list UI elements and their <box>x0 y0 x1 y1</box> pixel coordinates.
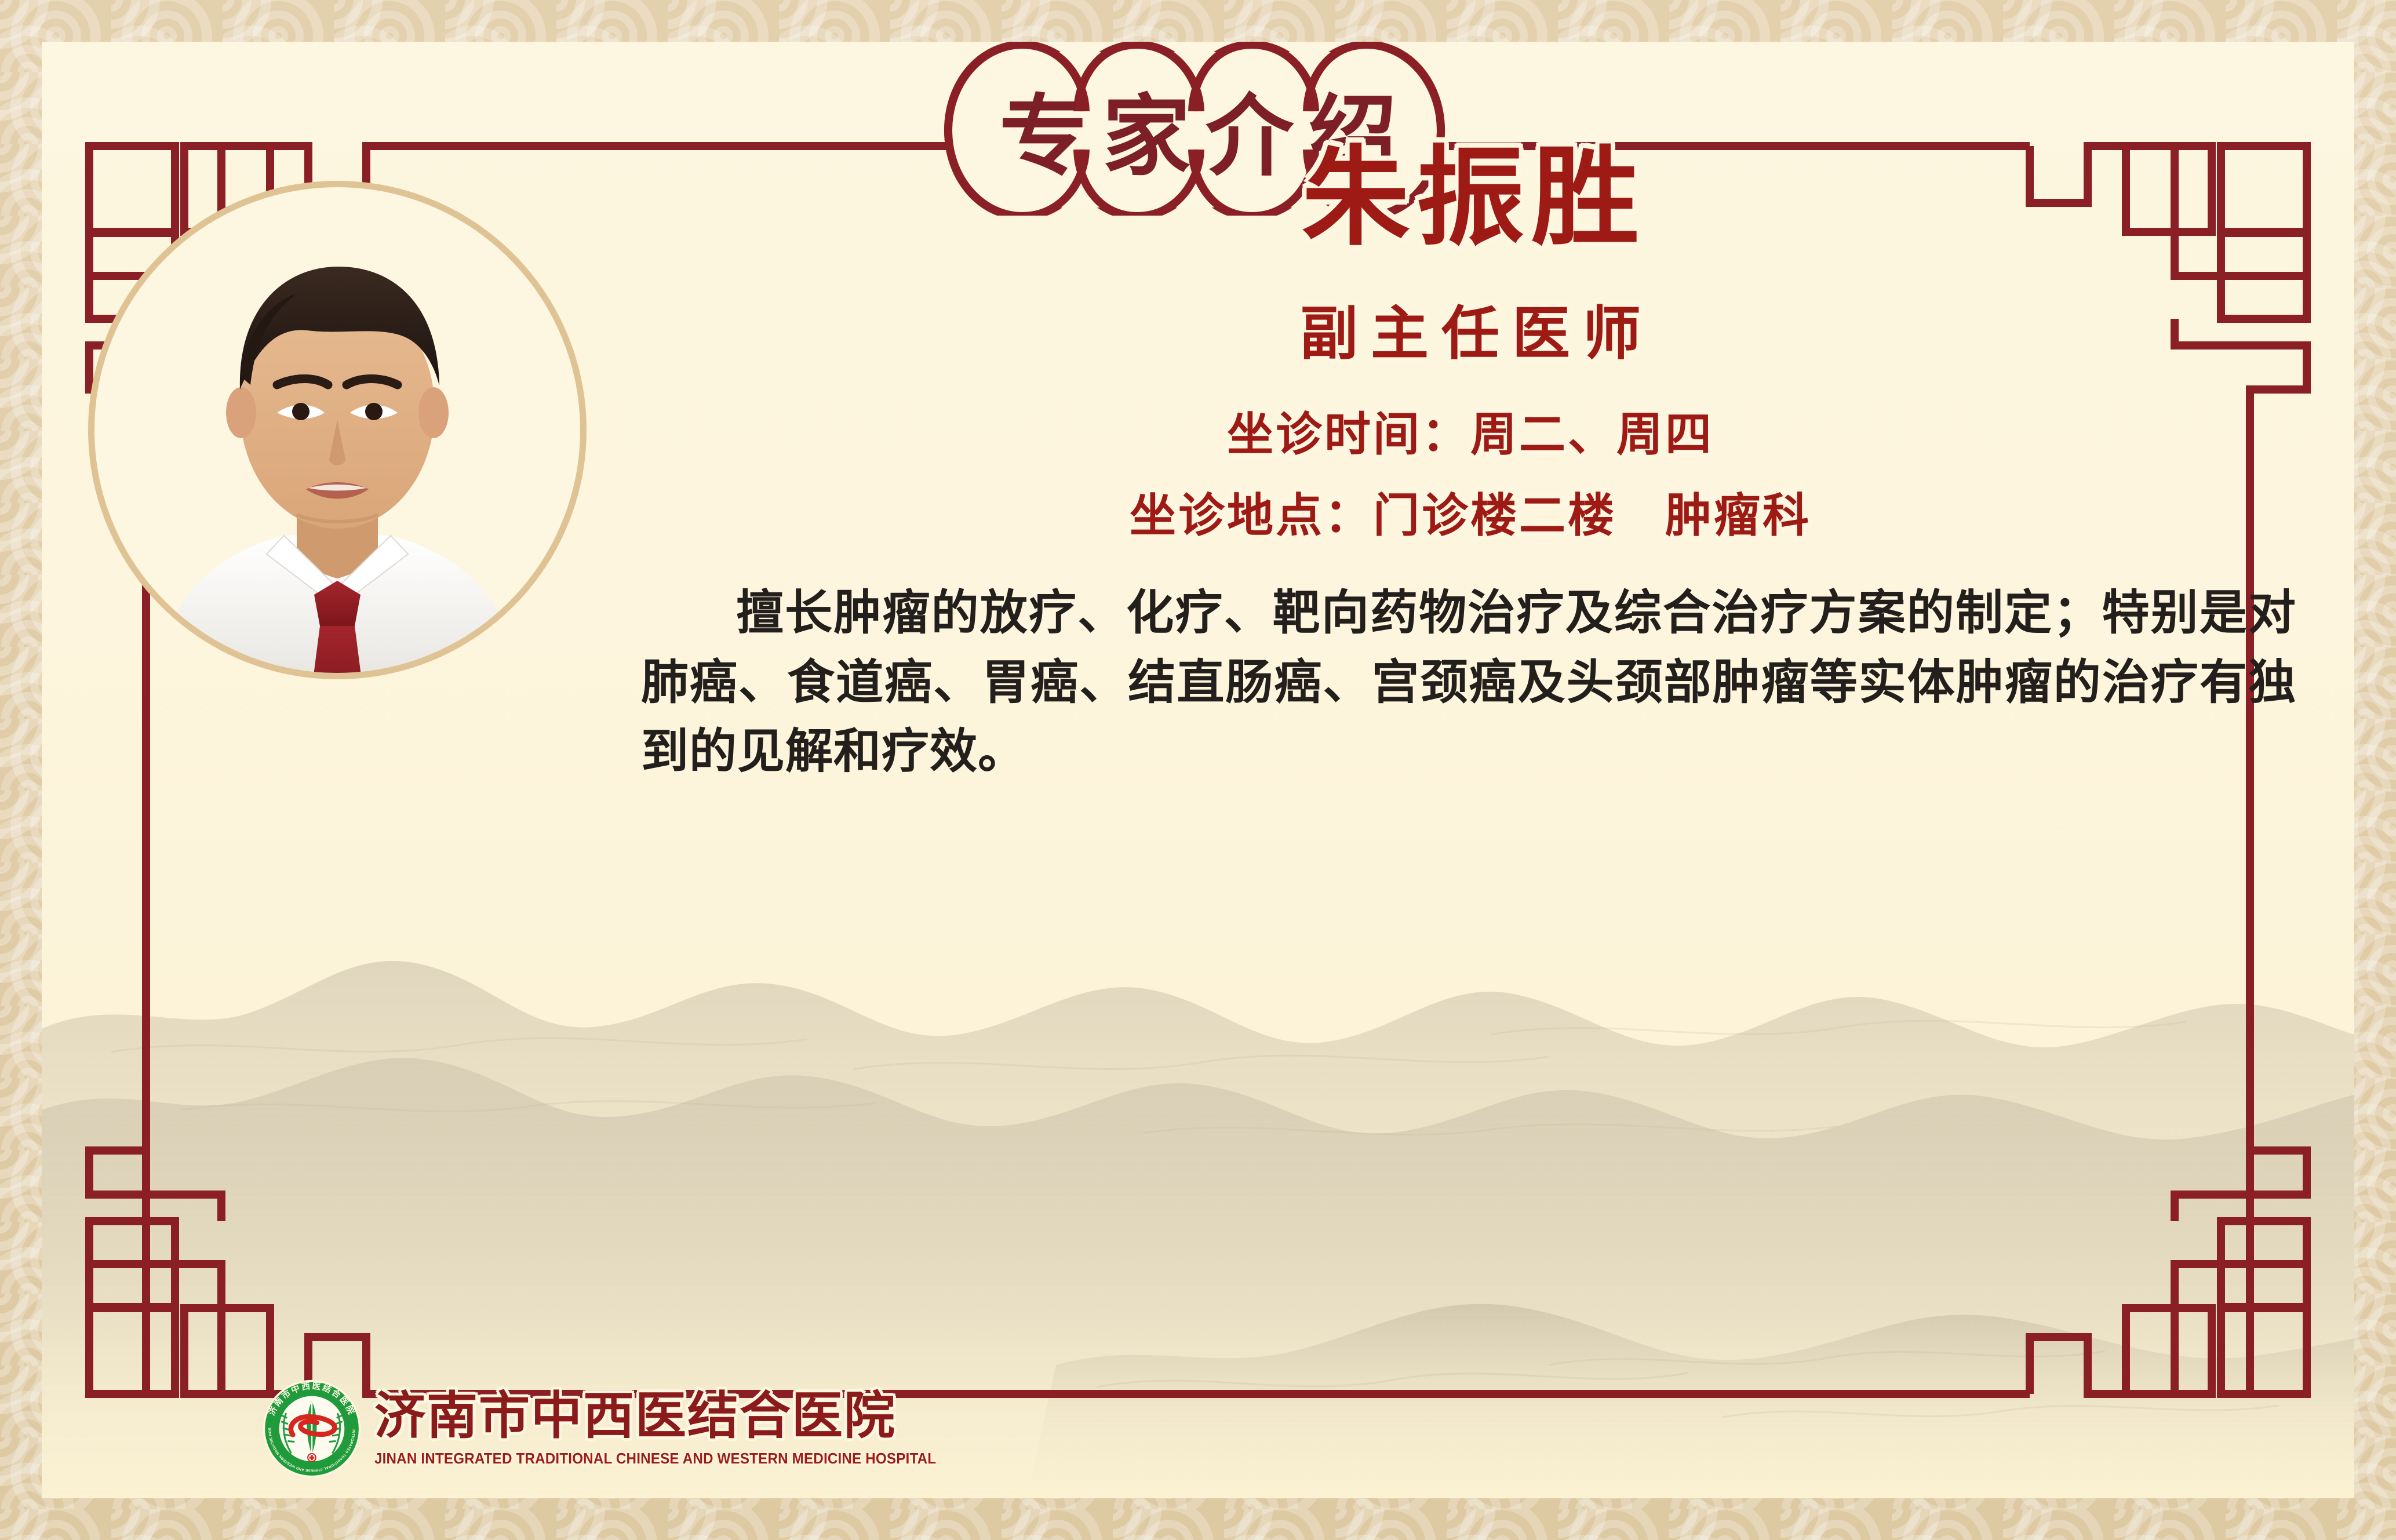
doctor-title: 副主任医师 <box>639 305 2302 363</box>
hospital-footer: 济南市中西医结合医院 JINAN INTEGRATED TRADITIONAL … <box>262 1379 978 1479</box>
doctor-bio: 擅长肿瘤的放疗、化疗、靶向药物治疗及综合治疗方案的制定；特别是对肺癌、食道癌、胃… <box>641 578 2296 787</box>
hospital-name-en: JINAN INTEGRATED TRADITIONAL CHINESE AND… <box>374 1450 936 1468</box>
doctor-name: 朱振胜 <box>639 144 2302 252</box>
portrait-ring <box>88 181 587 679</box>
hospital-name-block: 济南市中西医结合医院 JINAN INTEGRATED TRADITIONAL … <box>374 1390 978 1468</box>
poster-root: 专家介绍 <box>0 0 2396 1540</box>
doctor-info-column: 朱振胜 副主任医师 坐诊时间：周二、周四 坐诊地点：门诊楼二楼 肿瘤科 擅长肿瘤… <box>639 111 2302 1446</box>
clinic-time: 坐诊时间：周二、周四 <box>639 407 2302 463</box>
hospital-logo-icon: 济南市中西医结合医院 JINAN INTEGRATED TRADITIONAL … <box>262 1379 362 1479</box>
hospital-name-cn: 济南市中西医结合医院 <box>374 1390 978 1441</box>
inner-panel: 专家介绍 <box>42 42 2354 1498</box>
clinic-location: 坐诊地点：门诊楼二楼 肿瘤科 <box>639 488 2302 544</box>
